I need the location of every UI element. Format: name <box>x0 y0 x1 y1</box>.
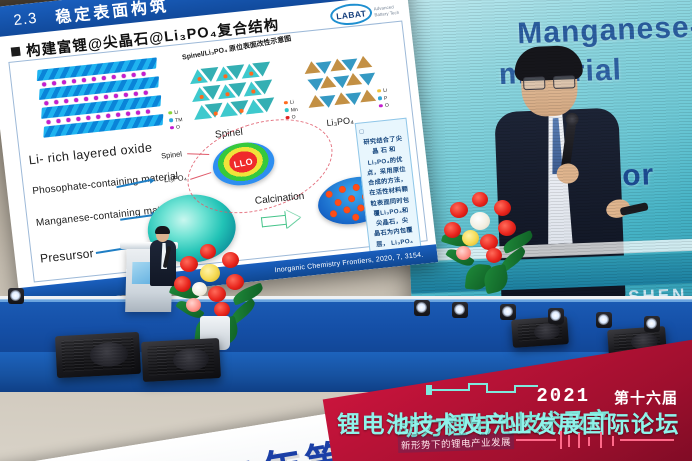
connector-arrow-icon <box>150 177 156 183</box>
legend-item-label: TM <box>175 117 183 124</box>
note-line: 点，采用原位 <box>367 166 407 177</box>
label-li3po4-tag: Li₃PO₄ <box>163 173 187 184</box>
note-line: Li₃PO₄的优 <box>367 156 403 167</box>
stage-edge-highlight <box>0 299 692 302</box>
bullet-square-icon <box>11 47 21 57</box>
label-phosphate-material: Phosophate-containing material <box>32 170 179 199</box>
slide-section-number: 2.3 <box>13 9 39 28</box>
li3po4-crystal-diagram <box>299 50 383 116</box>
logo-subtext: AdvancedBattery Tech <box>373 4 399 18</box>
legend-item-label: Li <box>174 109 179 115</box>
note-line: 覆Li₃PO₄和 <box>373 207 409 218</box>
floor-stage-light <box>548 308 564 324</box>
note-line: 粒表面同时包 <box>370 196 410 207</box>
layered-oxide-diagram <box>36 53 170 146</box>
legend-item-label: Li <box>383 88 388 94</box>
forum-branding-overlay: 2021 第十六届 锂电池技术及产业发展国际论坛 <box>386 369 686 451</box>
legend-item-label: Mn <box>291 106 299 113</box>
legend-li3po4: Li P O <box>377 88 390 111</box>
legend-item-label: P <box>384 95 388 101</box>
legend-layered-oxide: Li TM O <box>168 109 184 133</box>
label-presursor: Presursor <box>39 245 94 267</box>
note-line: 晶 石 和 <box>372 146 396 155</box>
note-line: 研究结合了尖 <box>363 135 403 146</box>
floor-stage-light <box>452 302 468 318</box>
label-llo: LLO <box>233 156 254 170</box>
forum-year: 2021 <box>536 385 590 407</box>
flower-arrangement <box>442 188 534 288</box>
logo-text: LABAT <box>329 2 373 27</box>
note-line: 在活性材料颗 <box>369 186 409 197</box>
waveform-decoration-icon <box>516 431 676 449</box>
label-li3po4-structure: Li₃PO₄ <box>326 115 354 128</box>
presenter-hair <box>155 226 170 234</box>
flower-arrangement <box>170 238 266 338</box>
stage-monitor-speaker <box>55 332 141 378</box>
legend-item-label: Li <box>290 99 295 105</box>
floor-stage-light <box>644 316 660 332</box>
label-spinel-tag: Spinel <box>161 149 183 160</box>
stage-monitor-speaker <box>141 338 221 382</box>
speaker-glasses-icon <box>523 75 575 89</box>
floor-stage-light <box>500 304 516 320</box>
circuit-decoration-icon <box>426 381 546 397</box>
calcination-arrow-icon <box>260 209 304 229</box>
note-line: 晶石为内包覆 <box>374 227 414 238</box>
legend-item-label: O <box>176 124 181 130</box>
slide-section-title: 稳定表面构筑 <box>54 0 170 28</box>
legend-item-label: O <box>385 102 390 108</box>
floor-stage-light <box>414 300 430 316</box>
note-line: 尖晶石，尖 <box>376 217 409 227</box>
screenshot-root: Manganese- material sursor SHEN 2.3 稳定表面… <box>0 0 692 461</box>
spinel-crystal-diagram <box>186 57 279 128</box>
annotation-note-cn: □ 研究结合了尖 晶 石 和 Li₃PO₄的优 点，采用原位 合成的方法， 在活… <box>355 118 423 267</box>
led-text-line1: Manganese- <box>517 10 692 51</box>
floor-stage-light <box>8 288 24 304</box>
floor-stage-light <box>596 312 612 328</box>
